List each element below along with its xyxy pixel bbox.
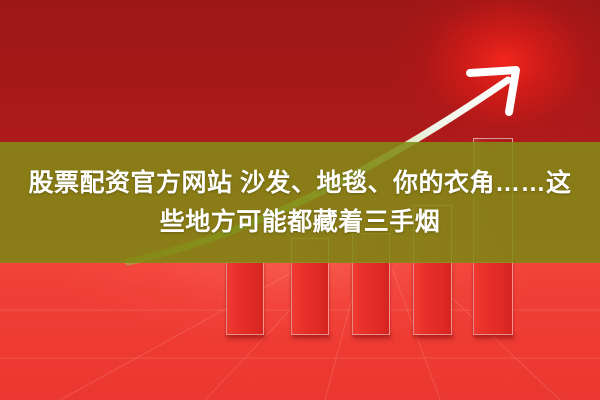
banner-image: 股票配资官方网站 沙发、地毯、你的衣角……这 些地方可能都藏着三手烟 [0,0,600,400]
headline-line-2: 些地方可能都藏着三手烟 [160,203,441,242]
headline-line-1: 股票配资官方网站 沙发、地毯、你的衣角……这 [29,164,572,203]
page-title: 股票配资官方网站 沙发、地毯、你的衣角……这 些地方可能都藏着三手烟 [0,142,600,263]
